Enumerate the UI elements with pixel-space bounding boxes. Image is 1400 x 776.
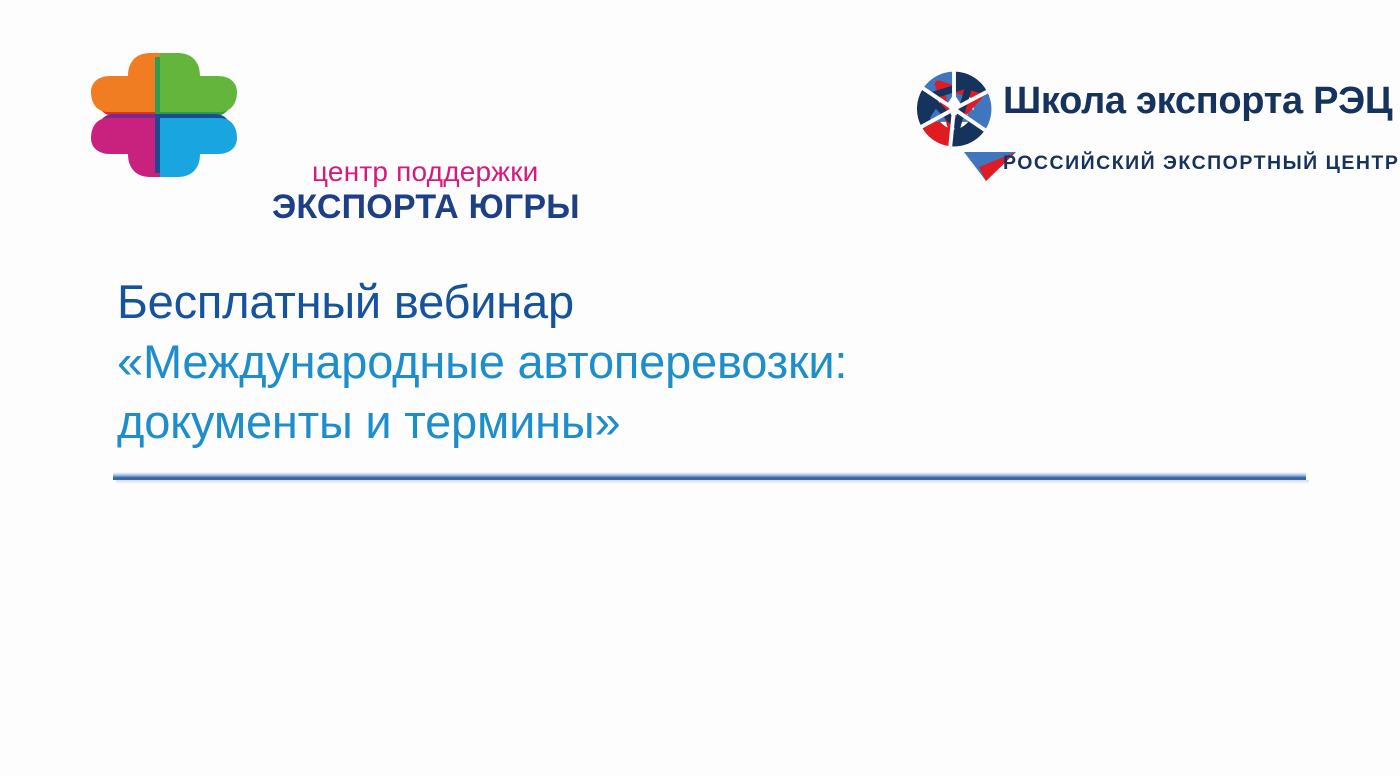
title-divider-rule <box>113 472 1306 480</box>
rec-globe-emblem-icon <box>915 70 993 148</box>
logo-ugra-tagline: центр поддержки <box>312 158 539 186</box>
rec-logo-subtitle: РОССИЙСКИЙ ЭКСПОРТНЫЙ ЦЕНТР <box>1003 154 1399 174</box>
slide-title-line-1: Бесплатный вебинар <box>117 272 1117 332</box>
slide-title-line-2: «Международные автоперевозки: <box>117 332 1117 392</box>
divider-shadow <box>116 480 1309 484</box>
slide-title: Бесплатный вебинар «Международные автопе… <box>117 272 1117 452</box>
logo-ugra-wordmark: центр поддержки ЭКСПОРТА ЮГРЫ <box>216 110 466 190</box>
logo-ugra-name: ЭКСПОРТА ЮГРЫ <box>272 190 580 224</box>
divider-bar <box>113 472 1306 480</box>
rec-logo-title: Школа экспорта РЭЦ <box>1003 82 1392 120</box>
logo-school-of-export-rec: Школа экспорта РЭЦ РОССИЙСКИЙ ЭКСПОРТНЫЙ… <box>915 66 1360 184</box>
logo-export-support-center-ugra: центр поддержки ЭКСПОРТА ЮГРЫ <box>88 40 468 190</box>
slide-title-line-3: документы и термины» <box>117 392 1117 452</box>
presentation-slide: центр поддержки ЭКСПОРТА ЮГРЫ <box>0 0 1400 776</box>
